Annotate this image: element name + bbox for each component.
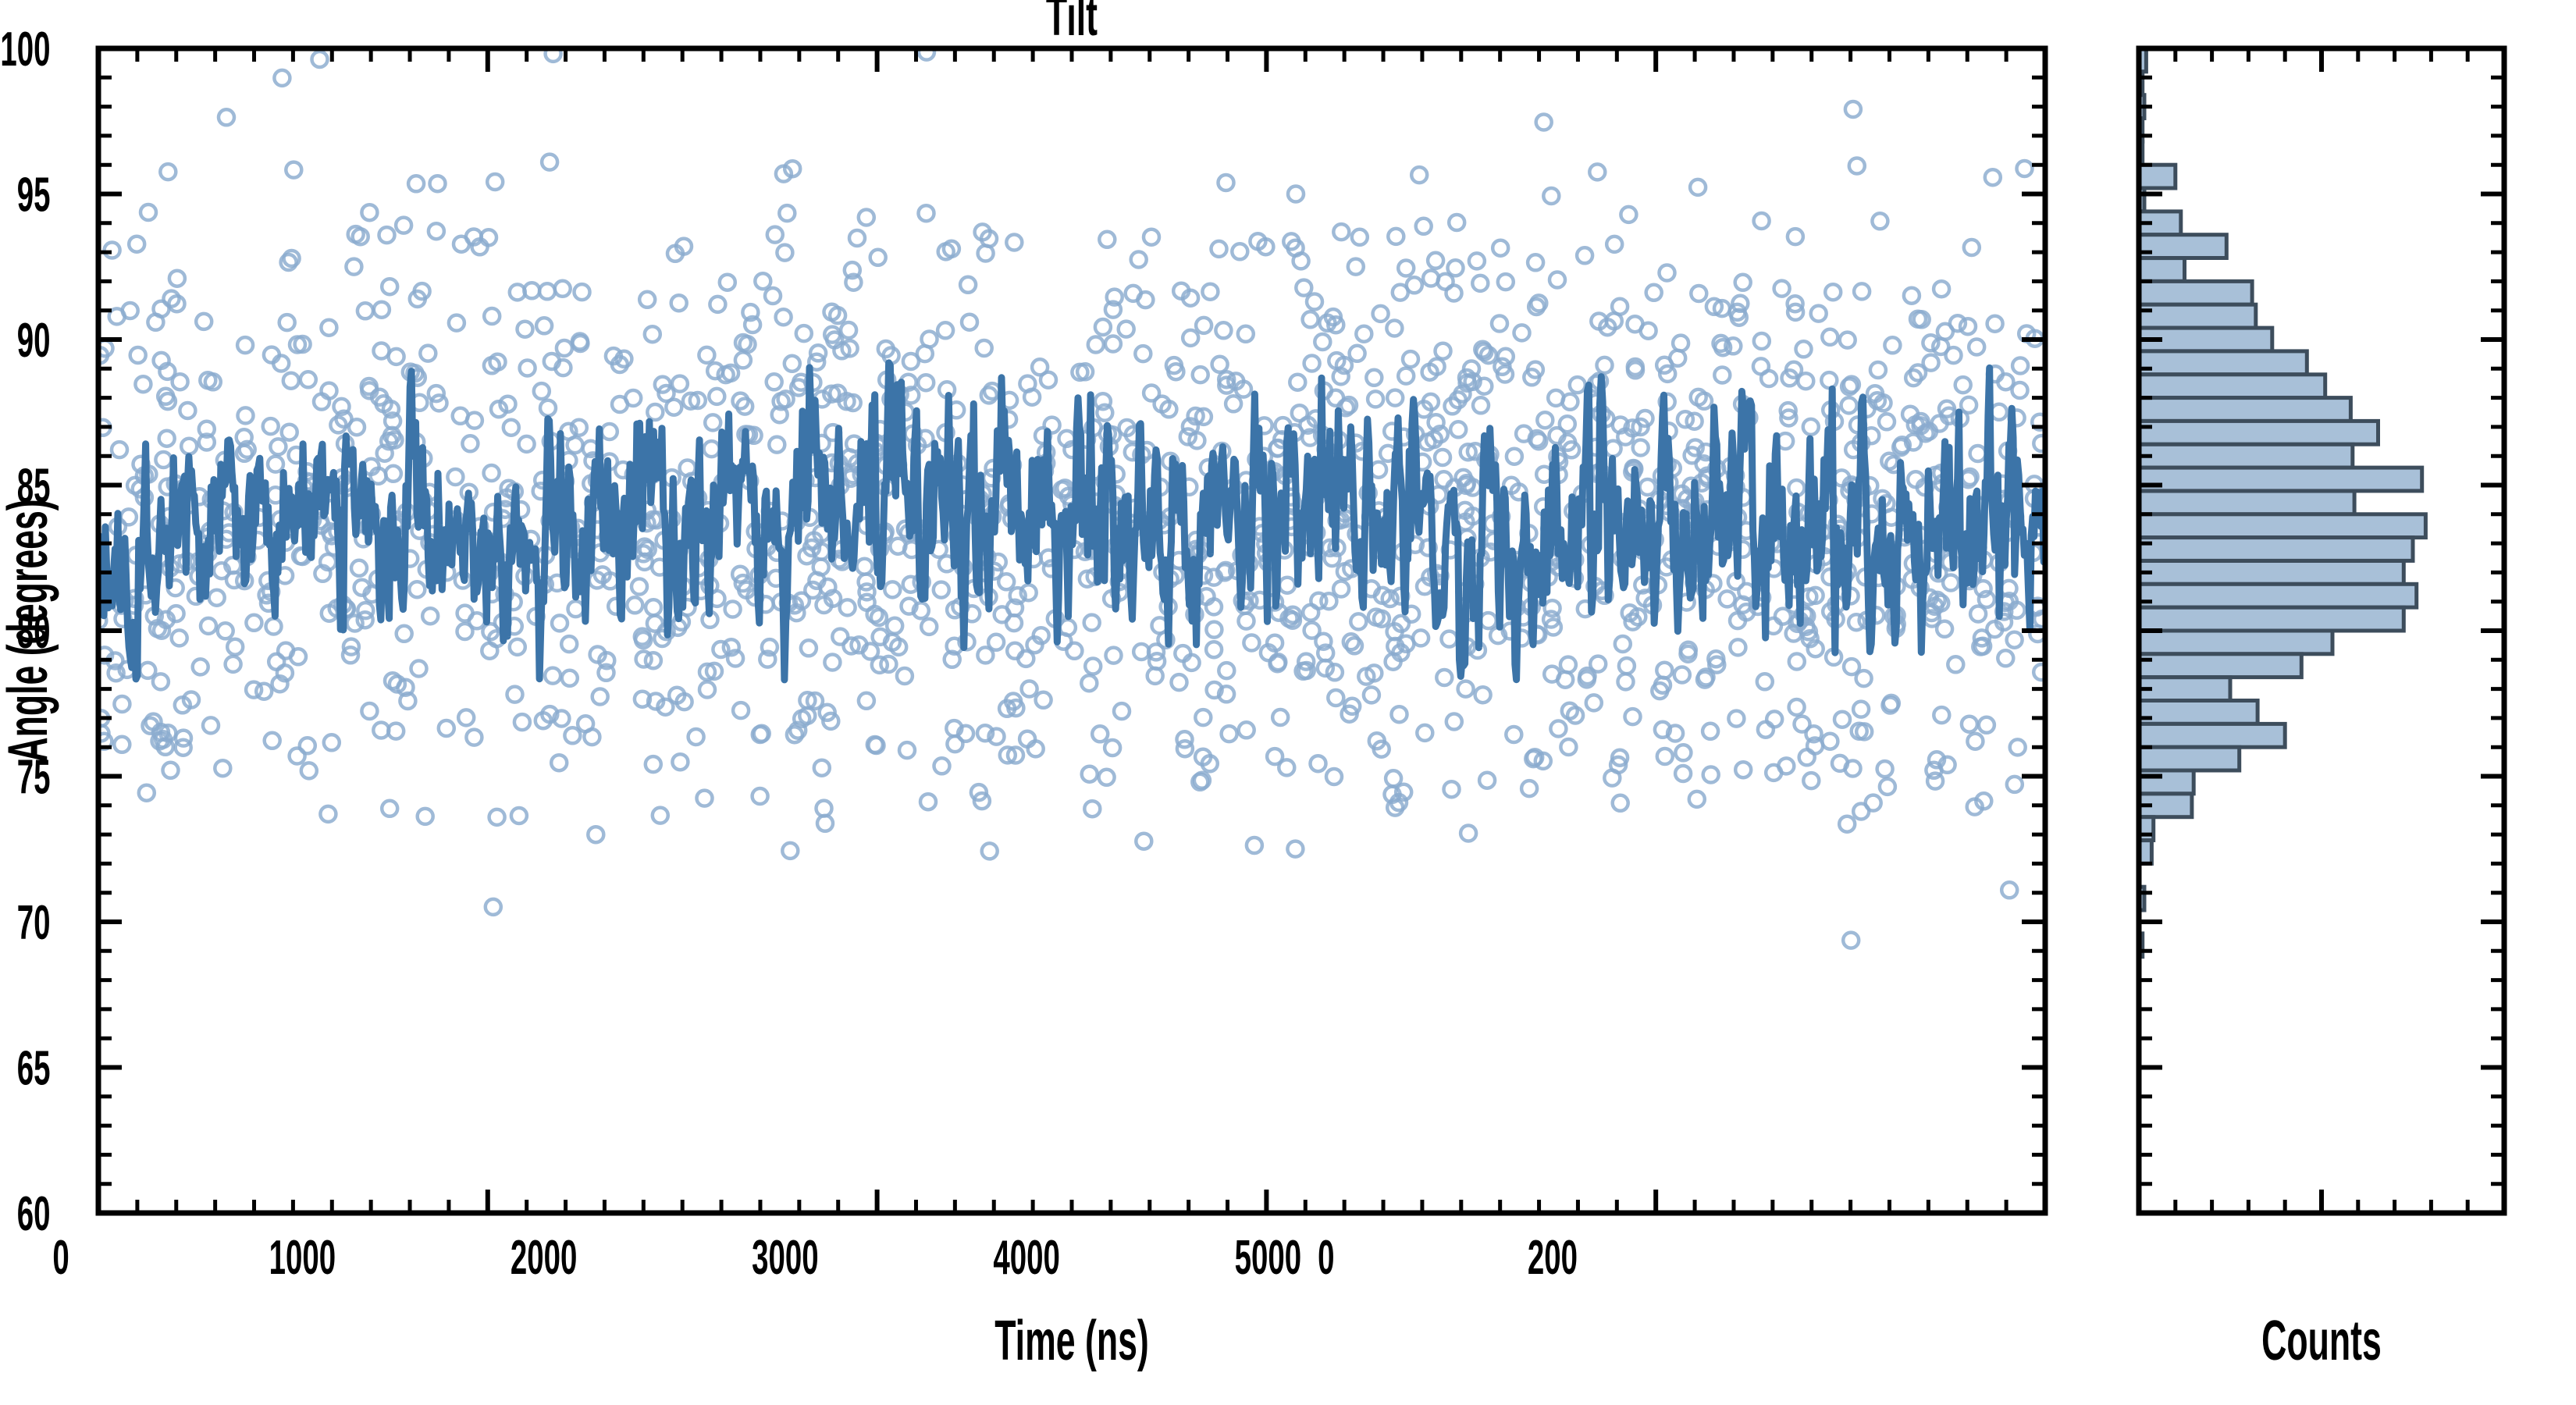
scatter-point (1720, 591, 1735, 606)
scatter-point (568, 437, 583, 453)
scatter-point (1333, 582, 1349, 597)
scatter-point (1007, 643, 1023, 659)
scatter-point (1386, 321, 1402, 336)
scatter-point (977, 647, 993, 663)
scatter-point (1304, 356, 1320, 372)
scatter-point (1461, 826, 1476, 841)
scatter-point (887, 618, 902, 634)
scatter-point (1758, 722, 1774, 738)
scatter-point (1612, 299, 1628, 315)
scatter-point (1570, 377, 1585, 393)
scatter-point (561, 636, 577, 652)
scatter-point (1350, 614, 1366, 629)
scatter-point (960, 277, 976, 293)
scatter-point (1839, 816, 1855, 832)
scatter-point (2012, 358, 2028, 374)
scatter-point (1232, 244, 1247, 259)
scatter-point (1212, 357, 1228, 372)
scatter-point (2017, 161, 2033, 176)
scatter-point (1475, 687, 1491, 702)
scatter-point (1119, 322, 1134, 337)
scatter-point (1970, 446, 1986, 461)
scatter-point (592, 689, 608, 705)
scatter-point (647, 404, 663, 420)
scatter-point (688, 729, 704, 745)
scatter-point (1348, 259, 1364, 275)
histogram-bar (2139, 678, 2230, 701)
scatter-point (710, 297, 725, 312)
scatter-point (998, 574, 1014, 589)
scatter-point (1834, 712, 1850, 727)
scatter-point (1092, 726, 1108, 742)
scatter-point (382, 279, 397, 294)
plot-canvas: 0100020003000400050006065707580859095100… (0, 0, 2576, 1405)
plot-title: Tilt (1046, 0, 1098, 48)
x-axis-title: Time (ns) (994, 1309, 1149, 1372)
scatter-point (351, 560, 367, 576)
scatter-point (1674, 667, 1690, 683)
scatter-point (1985, 169, 2001, 185)
scatter-point (801, 640, 817, 656)
scatter-point (1606, 237, 1622, 252)
tick-label: 65 (17, 1040, 51, 1095)
scatter-point (1856, 670, 1872, 686)
scatter-point (1018, 651, 1034, 667)
scatter-point (1845, 101, 1861, 117)
scatter-point (1219, 175, 1234, 190)
scatter-point (1206, 642, 1222, 657)
scatter-point (1041, 372, 1056, 388)
scatter-point (430, 176, 446, 191)
scatter-point (540, 400, 556, 416)
scatter-point (219, 109, 234, 125)
scatter-point (397, 626, 412, 642)
scatter-point (947, 736, 962, 752)
scatter-point (840, 599, 856, 615)
scatter-point (859, 584, 875, 599)
scatter-point (1586, 695, 1602, 710)
scatter-point (753, 788, 768, 804)
scatter-point (1854, 283, 1870, 299)
tick-label: 70 (17, 895, 51, 950)
scatter-point (859, 210, 874, 226)
scatter-point (671, 295, 687, 311)
scatter-point (646, 653, 661, 668)
scatter-point (841, 322, 856, 338)
scatter-point (1366, 370, 1382, 386)
scatter-point (1226, 396, 1241, 411)
scatter-point (982, 843, 998, 859)
scatter-point (1373, 306, 1389, 322)
scatter-point (1084, 615, 1100, 631)
scatter-point (1144, 229, 1159, 245)
scatter-point (1350, 346, 1365, 361)
histogram-bar (2139, 304, 2256, 328)
tick-label: 100 (0, 22, 50, 76)
scatter-point (1853, 702, 1869, 717)
scatter-point (1560, 416, 1575, 432)
scatter-point (386, 466, 401, 482)
scatter-point (705, 414, 720, 430)
scatter-point (814, 760, 830, 776)
scatter-point (1870, 362, 1886, 378)
scatter-point (1849, 158, 1865, 174)
scatter-point (1560, 739, 1576, 755)
scatter-point (270, 439, 286, 454)
scatter-point (429, 223, 444, 239)
scatter-point (422, 608, 438, 624)
scatter-point (725, 602, 741, 617)
scatter-point (181, 439, 197, 454)
scatter-point (105, 243, 120, 258)
scatter-point (238, 407, 254, 423)
scatter-point (169, 271, 185, 286)
scatter-point (1641, 323, 1656, 339)
scatter-point (1368, 391, 1383, 407)
scatter-point (1022, 681, 1037, 697)
scatter-point (1388, 229, 1404, 244)
scatter-point (1085, 659, 1101, 674)
scatter-point (627, 597, 642, 613)
tick-label: 2000 (511, 1230, 578, 1285)
scatter-point (1560, 657, 1576, 673)
histogram-bar (2139, 607, 2403, 631)
scatter-point (361, 205, 377, 220)
scatter-point (1998, 650, 2013, 666)
scatter-point (859, 693, 874, 709)
scatter-point (1099, 232, 1115, 247)
tick-label: 90 (17, 313, 51, 368)
scatter-point (782, 843, 798, 859)
scatter-point (1904, 288, 1920, 304)
scatter-point (466, 730, 482, 745)
scatter-point (646, 599, 661, 615)
scatter-point (135, 376, 151, 392)
scatter-point (1469, 253, 1485, 269)
scatter-point (1272, 710, 1288, 725)
scatter-point (379, 227, 395, 243)
scatter-point (389, 349, 404, 365)
scatter-point (584, 729, 600, 745)
scatter-points (91, 44, 2050, 948)
scatter-point (1714, 368, 1730, 383)
scatter-point (1136, 834, 1151, 849)
scatter-point (1287, 841, 1303, 857)
scatter-point (163, 763, 179, 778)
scatter-point (226, 656, 241, 672)
scatter-point (193, 659, 208, 674)
scatter-point (1735, 762, 1751, 777)
scatter-point (1880, 779, 1895, 795)
hist-tick-labels: 0200 (1318, 1230, 1578, 1285)
histogram-bar (2139, 584, 2417, 607)
scatter-point (564, 727, 580, 743)
scatter-point (1239, 722, 1254, 738)
scatter-point (454, 237, 469, 252)
scatter-point (785, 356, 800, 372)
scatter-point (279, 315, 295, 330)
scatter-point (160, 164, 176, 180)
scatter-point (920, 794, 936, 809)
tick-label: 4000 (993, 1230, 1060, 1285)
scatter-point (1114, 703, 1130, 719)
scatter-point (510, 639, 525, 655)
scatter-point (1095, 319, 1111, 335)
scatter-point (921, 619, 937, 635)
scatter-point (1606, 441, 1621, 457)
scatter-point (1506, 727, 1521, 742)
scatter-point (1492, 316, 1507, 332)
scatter-point (1590, 656, 1606, 672)
scatter-point (180, 403, 195, 418)
scatter-point (557, 340, 572, 356)
histogram-bar (2139, 561, 2403, 585)
tick-label: 95 (17, 167, 51, 222)
scatter-point (699, 682, 715, 698)
scatter-point (346, 259, 361, 275)
scatter-point (358, 303, 373, 318)
scatter-point (1215, 322, 1231, 338)
scatter-point (1969, 340, 1984, 355)
scatter-point (246, 615, 262, 631)
scatter-point (1735, 275, 1751, 290)
scatter-point (1333, 224, 1349, 240)
scatter-point (645, 326, 660, 342)
scatter-point (1673, 336, 1688, 351)
scatter-point (256, 684, 272, 699)
scatter-point (1493, 240, 1508, 256)
scatter-point (588, 827, 603, 842)
scatter-point (1135, 346, 1151, 361)
scatter-point (154, 301, 169, 317)
scatter-point (545, 668, 560, 684)
scatter-point (320, 806, 336, 822)
scatter-point (625, 390, 641, 406)
histogram-bar (2139, 235, 2226, 258)
scatter-point (1577, 247, 1592, 263)
scatter-point (1646, 285, 1662, 301)
histogram-bar (2139, 724, 2285, 747)
scatter-point (962, 315, 977, 330)
scatter-point (1364, 687, 1379, 702)
scatter-point (777, 245, 792, 261)
scatter-point (1550, 272, 1565, 288)
scatter-point (312, 52, 328, 67)
scatter-point (1799, 749, 1815, 765)
scatter-point (1131, 252, 1147, 268)
histogram-bar (2139, 398, 2350, 421)
scatter-point (1970, 606, 1986, 622)
scatter-point (266, 619, 282, 635)
scatter-point (767, 227, 783, 243)
histogram-bar (2139, 421, 2379, 444)
scatter-point (462, 436, 478, 451)
scatter-point (274, 70, 290, 86)
scatter-point (1328, 390, 1343, 406)
scatter-point (1184, 655, 1200, 670)
scatter-point (776, 309, 792, 325)
scatter-point (1754, 213, 1770, 229)
scatter-point (1450, 421, 1466, 437)
scatter-point (918, 375, 934, 390)
scatter-point (1728, 711, 1744, 727)
scatter-point (1766, 765, 1781, 781)
scatter-point (1923, 335, 1938, 350)
scatter-point (1934, 707, 1949, 723)
scatter-point (575, 284, 590, 300)
scatter-point (857, 559, 873, 574)
scatter-point (713, 642, 728, 657)
scatter-point (418, 809, 433, 824)
scatter-point (1403, 351, 1418, 367)
scatter-point (1946, 347, 1962, 363)
scatter-point (562, 670, 578, 686)
scatter-point (1105, 740, 1120, 756)
scatter-point (1811, 306, 1827, 322)
scatter-point (1343, 634, 1359, 649)
tick-label: 60 (17, 1186, 51, 1241)
scatter-point (1088, 337, 1104, 353)
scatter-point (1446, 714, 1462, 730)
scatter-point (503, 420, 519, 436)
scatter-point (1106, 648, 1122, 663)
scatter-point (1099, 770, 1115, 785)
scatter-point (227, 639, 243, 655)
tick-label: 1000 (269, 1230, 336, 1285)
scatter-point (439, 720, 454, 736)
scatter-point (1417, 725, 1432, 741)
scatter-point (1172, 674, 1187, 690)
scatter-point (534, 383, 550, 399)
scatter-point (1754, 333, 1770, 349)
scatter-point (1621, 207, 1636, 222)
scatter-point (849, 230, 865, 246)
histogram-bar (2139, 514, 2425, 538)
histogram-bar (2139, 375, 2325, 398)
scatter-point (1247, 838, 1262, 853)
scatter-point (539, 283, 555, 299)
scatter-point (817, 816, 833, 831)
scatter-point (1955, 377, 1971, 393)
scatter-point (1927, 774, 1943, 789)
scatter-point (1006, 235, 1022, 251)
scatter-point (282, 425, 297, 440)
scatter-point (897, 668, 913, 684)
scatter-point (1449, 215, 1464, 230)
scatter-point (632, 579, 647, 595)
scatter-point (1964, 240, 1980, 255)
scatter-point (203, 717, 219, 733)
scatter-point (1393, 285, 1408, 301)
scatter-point (1979, 717, 1994, 733)
scatter-point (1444, 781, 1460, 797)
scatter-point (755, 273, 770, 289)
scatter-point (1006, 615, 1022, 631)
scatter-point (1528, 254, 1543, 270)
scatter-point (1866, 795, 1881, 811)
scatter-point (1288, 187, 1304, 202)
scatter-point (489, 809, 505, 825)
scatter-point (1690, 180, 1706, 195)
scatter-point (699, 347, 714, 363)
scatter-point (646, 756, 661, 772)
scatter-point (796, 325, 812, 341)
scatter-point (511, 808, 527, 823)
scatter-point (1803, 419, 1819, 435)
scatter-point (653, 808, 668, 823)
scatter-point (1458, 681, 1474, 697)
scatter-point (130, 347, 146, 363)
scatter-point (1267, 749, 1283, 764)
scatter-point (1703, 724, 1718, 739)
scatter-point (787, 727, 802, 742)
scatter-point (1472, 276, 1488, 291)
scatter-point (1219, 663, 1234, 678)
scatter-point (1244, 635, 1259, 651)
scatter-point (1640, 479, 1656, 495)
scatter-point (349, 419, 365, 435)
scatter-point (903, 577, 919, 592)
scatter-point (709, 389, 724, 404)
histogram-bars (2139, 48, 2425, 957)
scatter-point (938, 322, 953, 338)
scatter-point (520, 361, 535, 376)
scatter-point (1498, 349, 1514, 365)
scatter-point (1105, 336, 1121, 352)
scatter-point (1239, 614, 1254, 629)
scatter-point (396, 218, 411, 233)
scatter-point (1884, 337, 1900, 353)
scatter-point (977, 340, 992, 356)
scatter-point (1841, 397, 1857, 413)
scatter-point (268, 457, 283, 472)
scatter-point (1290, 375, 1305, 390)
scatter-point (1212, 241, 1227, 257)
scatter-point (1774, 281, 1790, 297)
scatter-point (1987, 316, 2003, 332)
scatter-point (2001, 882, 2017, 898)
histogram-bar (2139, 631, 2332, 654)
scatter-point (1196, 318, 1212, 333)
scatter-point (1279, 578, 1295, 593)
scatter-point (602, 424, 617, 439)
scatter-point (1321, 593, 1336, 609)
histogram-bar (2139, 491, 2354, 514)
histogram-bar (2139, 747, 2240, 770)
histogram-bar (2139, 165, 2176, 188)
scatter-point (1872, 213, 1888, 229)
histogram-bar (2139, 538, 2413, 561)
scatter-point (1036, 692, 1051, 708)
scatter-point (1803, 773, 1819, 788)
scatter-point (1195, 710, 1211, 725)
scatter-point (112, 442, 127, 457)
scatter-point (1597, 357, 1613, 373)
scatter-point (1436, 471, 1452, 487)
scatter-point (1352, 229, 1368, 245)
scatter-point (1296, 280, 1311, 296)
scatter-point (385, 673, 400, 688)
histogram-bar (2139, 444, 2353, 468)
scatter-point (981, 387, 997, 403)
scatter-point (129, 237, 144, 252)
scatter-point (1962, 717, 1977, 732)
scatter-point (1183, 330, 1198, 346)
scatter-point (1498, 274, 1514, 290)
scatter-point (1761, 371, 1777, 386)
scatter-point (237, 337, 253, 353)
scatter-point (324, 735, 340, 750)
